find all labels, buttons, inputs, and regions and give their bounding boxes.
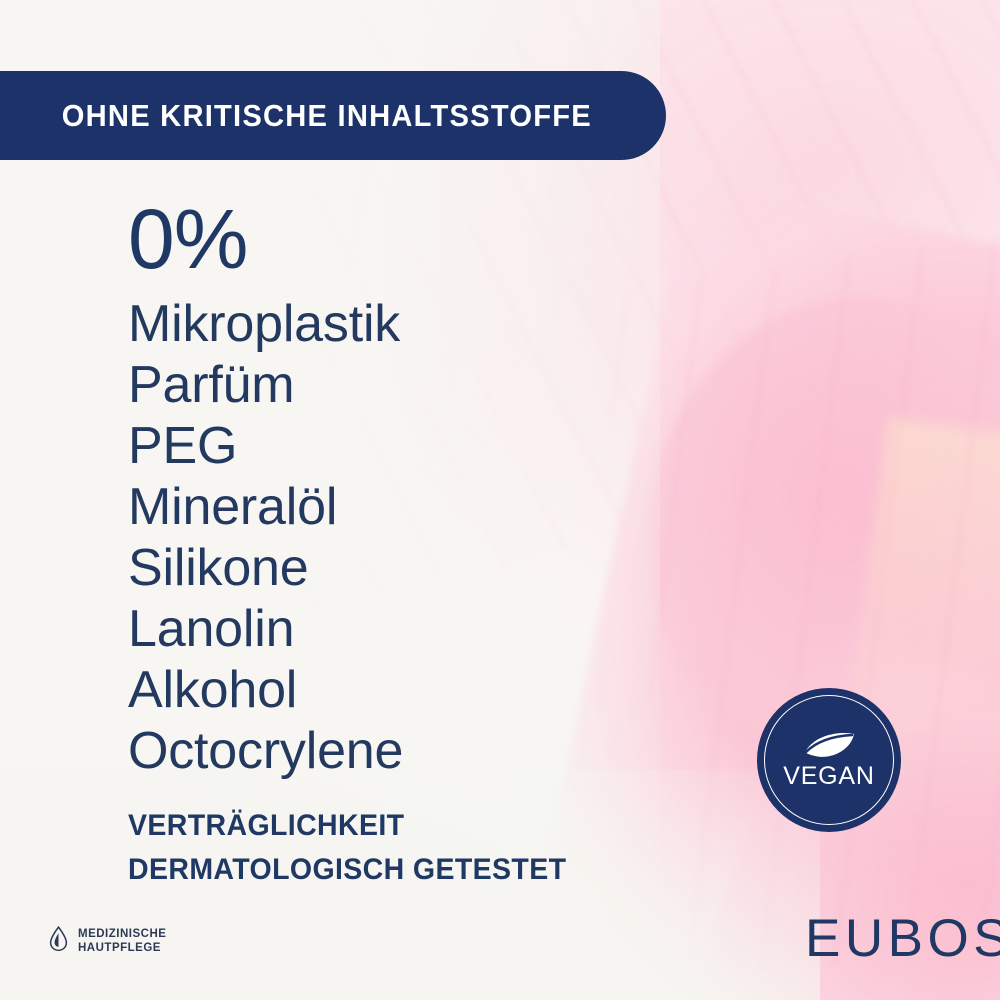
medical-care-line-2: HAUTPFLEGE xyxy=(78,942,161,954)
advertisement-canvas: OHNE KRITISCHE INHALTSSTOFFE 0% Mikropla… xyxy=(0,0,1000,1000)
claim-line: VERTRÄGLICHKEIT xyxy=(128,804,698,848)
vegan-badge-label: VEGAN xyxy=(783,762,875,791)
medical-care-line-1: MEDIZINISCHE xyxy=(78,928,166,940)
vegan-badge: VEGAN xyxy=(757,688,901,832)
water-drop-icon xyxy=(48,925,69,957)
free-from-list: Mikroplastik Parfüm PEG Mineralöl Siliko… xyxy=(128,294,728,782)
percent-headline: 0% xyxy=(128,200,728,280)
eubos-wordmark: EUBOS xyxy=(805,908,1000,969)
list-item: Mikroplastik xyxy=(128,294,728,355)
list-item: Lanolin xyxy=(128,599,728,660)
main-content: 0% Mikroplastik Parfüm PEG Mineralöl Sil… xyxy=(128,200,728,892)
leaf-icon xyxy=(801,730,857,760)
list-item: Alkohol xyxy=(128,660,728,721)
claims-block: VERTRÄGLICHKEIT DERMATOLOGISCH GETESTET xyxy=(128,804,728,892)
list-item: Octocrylene xyxy=(128,721,728,782)
list-item: Silikone xyxy=(128,538,728,599)
header-banner-title: OHNE KRITISCHE INHALTSSTOFFE xyxy=(0,98,592,134)
list-item: Parfüm xyxy=(128,355,728,416)
header-banner: OHNE KRITISCHE INHALTSSTOFFE xyxy=(0,71,666,160)
list-item: Mineralöl xyxy=(128,477,728,538)
medical-care-logo-text: MEDIZINISCHE HAUTPFLEGE xyxy=(78,927,166,955)
claim-line: DERMATOLOGISCH GETESTET xyxy=(128,848,698,892)
list-item: PEG xyxy=(128,416,728,477)
medical-care-logo: MEDIZINISCHE HAUTPFLEGE xyxy=(48,925,166,957)
